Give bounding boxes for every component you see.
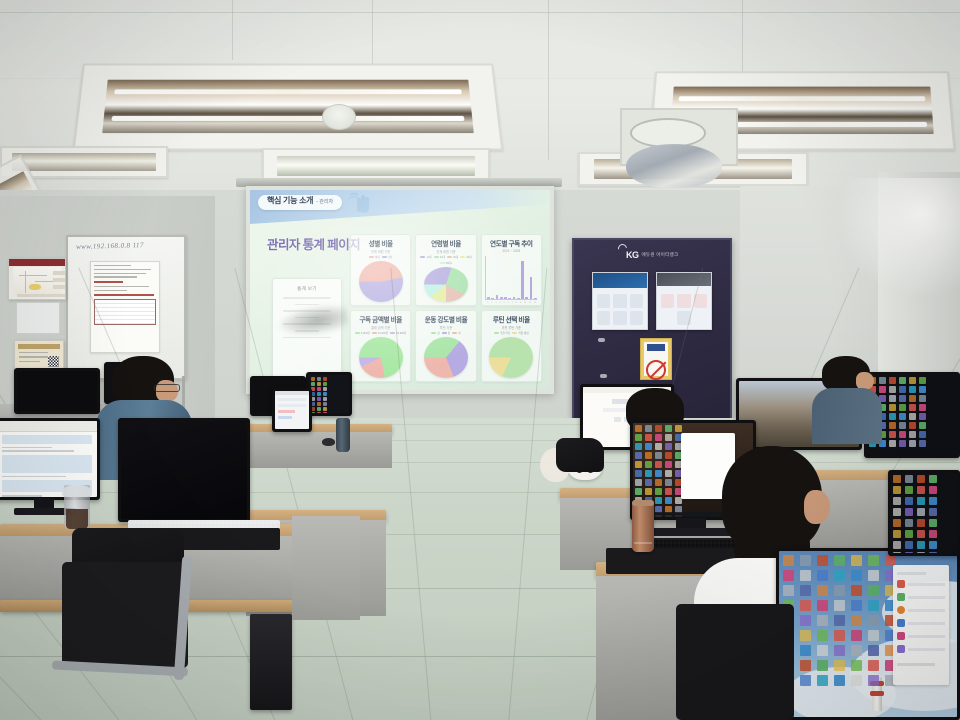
desktop-icon[interactable] bbox=[834, 615, 845, 626]
legend-swatch bbox=[440, 262, 445, 265]
legend-item: 상 bbox=[431, 331, 439, 335]
bar bbox=[496, 295, 499, 299]
ceiling bbox=[0, 0, 960, 205]
desktop-icon[interactable] bbox=[889, 395, 896, 402]
chair-left-front[interactable] bbox=[52, 562, 198, 720]
legend-label: 30대 bbox=[453, 255, 458, 259]
desktop-icon[interactable] bbox=[919, 404, 926, 411]
desktop-icon[interactable] bbox=[909, 440, 916, 447]
desktop-icon[interactable] bbox=[851, 630, 862, 641]
desktop-icon[interactable] bbox=[800, 600, 811, 611]
chart-title: 운동 강도별 비율 bbox=[425, 314, 468, 324]
bar bbox=[491, 298, 494, 299]
desktop-icon[interactable] bbox=[665, 470, 672, 477]
desktop-icon[interactable] bbox=[917, 552, 925, 553]
legend-label: 중 bbox=[448, 331, 450, 335]
desktop-icon[interactable] bbox=[893, 519, 901, 527]
legend-swatch bbox=[372, 332, 377, 335]
desktop-icon[interactable] bbox=[317, 392, 321, 396]
ceiling-air-vent bbox=[620, 108, 738, 166]
desktop-icon[interactable] bbox=[655, 488, 662, 495]
desktop-icon[interactable] bbox=[868, 600, 879, 611]
desktop-icon[interactable] bbox=[899, 377, 906, 384]
desktop-icon[interactable] bbox=[635, 434, 642, 441]
desktop-icon[interactable] bbox=[800, 630, 811, 641]
bar bbox=[487, 297, 490, 299]
desktop-icon[interactable] bbox=[889, 440, 896, 447]
legend-swatch bbox=[460, 256, 465, 259]
ceiling-speaker-icon bbox=[322, 104, 356, 130]
desktop-icon[interactable] bbox=[817, 645, 828, 656]
legend-item: 10대 bbox=[420, 255, 431, 259]
legend-item: 19,900원 bbox=[372, 331, 388, 335]
desktop-icon[interactable] bbox=[929, 486, 937, 494]
slide-header-sub: - 관리자 bbox=[316, 198, 333, 205]
desktop-icon[interactable] bbox=[909, 377, 916, 384]
desktop-icon[interactable] bbox=[817, 675, 828, 686]
desktop-icon[interactable] bbox=[868, 645, 879, 656]
x-tick-label: 7 bbox=[512, 302, 513, 304]
legend-swatch bbox=[447, 256, 452, 259]
monitor-back-left-off bbox=[14, 368, 100, 414]
chart-title: 연령별 비율 bbox=[431, 238, 461, 248]
desktop-icon[interactable] bbox=[905, 552, 913, 553]
desktop-icon[interactable] bbox=[929, 497, 937, 505]
desktop-icon[interactable] bbox=[889, 404, 896, 411]
legend-swatch bbox=[442, 332, 447, 335]
legend-swatch bbox=[431, 332, 436, 335]
desktop-icon[interactable] bbox=[917, 519, 925, 527]
desktop-icon[interactable] bbox=[851, 675, 862, 686]
desktop-icon[interactable] bbox=[645, 461, 652, 468]
desktop-icon[interactable] bbox=[323, 407, 327, 411]
desktop-icon[interactable] bbox=[851, 600, 862, 611]
legend-item: 9,900원 bbox=[355, 331, 370, 335]
desktop-icon[interactable] bbox=[834, 630, 845, 641]
x-tick-label: 8 bbox=[516, 302, 517, 304]
chart-legend: 추천 루틴직접 생성 bbox=[494, 331, 529, 335]
monitor-front-left-off bbox=[118, 418, 250, 522]
desktop-icon[interactable] bbox=[800, 645, 811, 656]
legend-swatch bbox=[434, 256, 439, 259]
mock-card-title: 통계 보기 bbox=[273, 286, 341, 292]
x-tick-label: 11 bbox=[529, 302, 531, 304]
legend-label: 9,900원 bbox=[361, 331, 370, 335]
desktop-icon[interactable] bbox=[917, 530, 925, 538]
desktop-icon[interactable] bbox=[834, 555, 845, 566]
x-tick-label: 10 bbox=[524, 302, 526, 304]
desktop-icon[interactable] bbox=[909, 386, 916, 393]
legend-item: 29,900원 bbox=[390, 331, 406, 335]
x-tick-label: 12 bbox=[534, 302, 536, 304]
desktop-icon[interactable] bbox=[817, 555, 828, 566]
bar-chart: ------123456789101112 bbox=[485, 256, 537, 300]
y-axis: ------ bbox=[482, 256, 483, 299]
bar bbox=[508, 298, 511, 299]
desktop-icon[interactable] bbox=[665, 497, 672, 504]
pin-marker bbox=[598, 338, 605, 342]
slide-chart-card: 성별 비율전체 회원 기준여성남성 bbox=[350, 234, 411, 306]
bar bbox=[521, 261, 524, 299]
desktop-icon[interactable] bbox=[919, 422, 926, 429]
desktop-icon[interactable] bbox=[899, 413, 906, 420]
legend-label: 직접 생성 bbox=[518, 331, 528, 335]
x-tick-label: 1 bbox=[487, 302, 488, 304]
legend-label: 여성 bbox=[375, 255, 380, 259]
desktop-icon[interactable] bbox=[929, 530, 937, 538]
desktop-icon[interactable] bbox=[783, 585, 794, 596]
desktop-icon[interactable] bbox=[909, 413, 916, 420]
desktop-icon[interactable] bbox=[645, 443, 652, 450]
desktop-icon[interactable] bbox=[868, 675, 879, 686]
desktop-icon[interactable] bbox=[834, 675, 845, 686]
legend-item: 하 bbox=[452, 331, 460, 335]
poster-safety-guide bbox=[592, 272, 648, 330]
pie-chart bbox=[489, 337, 533, 378]
desktop-icon[interactable] bbox=[868, 615, 879, 626]
legend-label: 상 bbox=[437, 331, 439, 335]
desktop-icon[interactable] bbox=[317, 397, 321, 401]
desktop-icon[interactable] bbox=[919, 395, 926, 402]
desktop-icon[interactable] bbox=[868, 585, 879, 596]
desktop-icon[interactable] bbox=[645, 488, 652, 495]
legend-item: 중 bbox=[442, 331, 450, 335]
notification-panel[interactable] bbox=[893, 565, 949, 685]
presentation-slide: 핵심 기능 소개 - 관리자 관리자 통계 페이지 통계 보기 성별 비율전체 … bbox=[250, 190, 550, 390]
desktop-icon[interactable] bbox=[675, 425, 682, 432]
desktop-icon[interactable] bbox=[665, 452, 672, 459]
monitor-right-edge bbox=[888, 470, 960, 556]
desktop-icon[interactable] bbox=[929, 475, 937, 483]
legend-swatch bbox=[452, 332, 457, 335]
bar bbox=[517, 298, 520, 299]
pin-marker bbox=[600, 374, 607, 378]
poster-no-food-sign bbox=[640, 338, 672, 380]
desktop-icon[interactable] bbox=[893, 497, 901, 505]
chart-legend: 10대20대30대40대50대+ bbox=[418, 255, 473, 265]
desktop-icon[interactable] bbox=[917, 497, 925, 505]
desktop-icon[interactable] bbox=[919, 386, 926, 393]
desktop-icon[interactable] bbox=[834, 600, 845, 611]
desktop-icon[interactable] bbox=[889, 377, 896, 384]
monitor-foreground-desktop bbox=[776, 548, 960, 720]
chart-subtitle: 전체 회원 기준 bbox=[371, 249, 390, 254]
desktop-icon[interactable] bbox=[800, 660, 811, 671]
desktop-icon[interactable] bbox=[645, 452, 652, 459]
desktop-icon[interactable] bbox=[899, 431, 906, 438]
desktop-icon[interactable] bbox=[899, 386, 906, 393]
chart-legend: 9,900원19,900원29,900원 bbox=[355, 331, 407, 335]
desktop-icon[interactable] bbox=[929, 541, 937, 549]
desktop-icon[interactable] bbox=[919, 413, 926, 420]
desktop-icon[interactable] bbox=[909, 404, 916, 411]
chart-legend: 상중하 bbox=[431, 331, 460, 335]
desktop-icon[interactable] bbox=[317, 382, 321, 386]
desktop-icon[interactable] bbox=[665, 443, 672, 450]
desktop-icon[interactable] bbox=[929, 519, 937, 527]
desktop-icon[interactable] bbox=[783, 570, 794, 581]
desktop-icon[interactable] bbox=[645, 470, 652, 477]
desktop-icon[interactable] bbox=[317, 377, 321, 381]
desktop-icon[interactable] bbox=[317, 387, 321, 391]
desktop-icon[interactable] bbox=[905, 497, 913, 505]
legend-label: 40대 bbox=[466, 255, 471, 259]
desktop-icon[interactable] bbox=[323, 397, 327, 401]
legend-swatch bbox=[494, 332, 499, 335]
desktop-icon[interactable] bbox=[317, 407, 321, 411]
desktop-icon[interactable] bbox=[655, 443, 662, 450]
desktop-icon[interactable] bbox=[800, 570, 811, 581]
poster-fire-drill bbox=[656, 272, 712, 330]
whiteboard-attached-document bbox=[90, 261, 160, 353]
desktop-icon[interactable] bbox=[905, 541, 913, 549]
desktop-icon[interactable] bbox=[323, 382, 327, 386]
pie-chart bbox=[424, 337, 468, 378]
desktop-icon[interactable] bbox=[655, 479, 662, 486]
legend-item: 추천 루틴 bbox=[494, 331, 510, 335]
desktop-icon[interactable] bbox=[655, 452, 662, 459]
slide-chart-card: 구독 금액별 비율결제 금액 기준9,900원19,900원29,900원 bbox=[350, 310, 411, 382]
desktop-icon[interactable] bbox=[851, 570, 862, 581]
mouse-back-center[interactable] bbox=[322, 438, 335, 446]
legend-item: 40대 bbox=[460, 255, 471, 259]
desktop-icon[interactable] bbox=[889, 422, 896, 429]
desktop-icon[interactable] bbox=[893, 508, 901, 516]
desk-panel-back-center bbox=[236, 432, 392, 468]
desktop-icon[interactable] bbox=[889, 413, 896, 420]
desktop-icon[interactable] bbox=[868, 570, 879, 581]
desktop-icon[interactable] bbox=[323, 412, 327, 413]
desktop-icon[interactable] bbox=[893, 530, 901, 538]
poster-evacuation-map bbox=[8, 258, 66, 300]
kg-logo: KG 에듀원 아이티뱅크 bbox=[626, 250, 678, 260]
legend-item: 여성 bbox=[369, 255, 380, 259]
desktop-icon[interactable] bbox=[899, 422, 906, 429]
desktop-icon[interactable] bbox=[635, 488, 642, 495]
desktop-icon[interactable] bbox=[905, 486, 913, 494]
legend-item: 남성 bbox=[382, 255, 393, 259]
desktop-icon[interactable] bbox=[635, 461, 642, 468]
desktop-icon[interactable] bbox=[905, 530, 913, 538]
kg-logo-mark: KG bbox=[626, 250, 639, 260]
desktop-icon[interactable] bbox=[817, 630, 828, 641]
legend-label: 추천 루틴 bbox=[500, 331, 510, 335]
desktop-icon[interactable] bbox=[665, 461, 672, 468]
slide-chart-card: 루틴 선택 비율추천 루틴 기준추천 루틴직접 생성 bbox=[481, 310, 542, 382]
desktop-icon[interactable] bbox=[917, 541, 925, 549]
desktop-icon[interactable] bbox=[817, 600, 828, 611]
desktop-icon[interactable] bbox=[868, 630, 879, 641]
desktop-icon[interactable] bbox=[917, 486, 925, 494]
x-axis-ticks: 123456789101112 bbox=[486, 302, 537, 304]
desktop-icon[interactable] bbox=[665, 479, 672, 486]
pie-chart bbox=[424, 267, 468, 302]
slide-chart-card: 운동 강도별 비율루틴 기준상중하 bbox=[415, 310, 476, 382]
bar bbox=[530, 277, 533, 299]
desktop-icon[interactable] bbox=[893, 541, 901, 549]
x-tick-label: 6 bbox=[508, 302, 509, 304]
bar bbox=[525, 297, 528, 299]
desktop-icon[interactable] bbox=[909, 395, 916, 402]
classroom-photo: www.192.168.0.8 117 bbox=[0, 0, 960, 720]
desktop-icon[interactable] bbox=[817, 615, 828, 626]
desktop-icon[interactable] bbox=[323, 387, 327, 391]
desktop-icon[interactable] bbox=[645, 434, 652, 441]
legend-label: 50대+ bbox=[446, 261, 453, 265]
poster-blank-notice bbox=[16, 302, 60, 334]
bar bbox=[500, 297, 503, 299]
desktop-icon[interactable] bbox=[800, 615, 811, 626]
desktop-icon[interactable] bbox=[909, 422, 916, 429]
desktop-icon[interactable] bbox=[635, 443, 642, 450]
desktop-icon[interactable] bbox=[919, 440, 926, 447]
desktop-icon[interactable] bbox=[929, 508, 937, 516]
pie-chart bbox=[359, 261, 403, 302]
desktop-icon[interactable] bbox=[834, 645, 845, 656]
person-student-back-right bbox=[812, 356, 882, 436]
desktop-icon[interactable] bbox=[635, 452, 642, 459]
slide-chart-card: 연령별 비율전체 회원 기준10대20대30대40대50대+ bbox=[415, 234, 476, 306]
jacket-on-desk-right bbox=[556, 438, 604, 472]
desktop-icon[interactable] bbox=[665, 488, 672, 495]
desktop-icon[interactable] bbox=[635, 479, 642, 486]
brown-tumbler bbox=[632, 500, 654, 552]
desktop-icon[interactable] bbox=[899, 395, 906, 402]
desktop-icon[interactable] bbox=[800, 675, 811, 686]
slide-title-pill: 핵심 기능 소개 - 관리자 bbox=[258, 195, 342, 210]
legend-swatch bbox=[512, 332, 517, 335]
legend-swatch bbox=[369, 256, 374, 259]
desktop-icon[interactable] bbox=[905, 519, 913, 527]
legend-label: 29,900원 bbox=[396, 331, 406, 335]
legend-label: 10대 bbox=[426, 255, 431, 259]
desktop-icon[interactable] bbox=[893, 552, 901, 553]
desktop-icon[interactable] bbox=[317, 402, 321, 406]
slide-chart-grid: 성별 비율전체 회원 기준여성남성연령별 비율전체 회원 기준10대20대30대… bbox=[350, 234, 542, 382]
desktop-icon[interactable] bbox=[899, 404, 906, 411]
desktop-icon[interactable] bbox=[919, 377, 926, 384]
hand-wave-icon bbox=[348, 191, 374, 213]
desktop-icon[interactable] bbox=[323, 377, 327, 381]
desktop-icon[interactable] bbox=[899, 440, 906, 447]
chart-subtitle: 추천 루틴 기준 bbox=[502, 325, 521, 330]
desktop-icon[interactable] bbox=[635, 425, 642, 432]
whiteboard-handwriting: www.192.168.0.8 117 bbox=[76, 241, 144, 251]
chart-title: 성별 비율 bbox=[369, 238, 393, 248]
desktop-icon[interactable] bbox=[917, 475, 925, 483]
desktop-icon[interactable] bbox=[645, 425, 652, 432]
slide-header-label: 핵심 기능 소개 bbox=[267, 195, 313, 206]
desktop-icon[interactable] bbox=[834, 570, 845, 581]
desktop-icon[interactable] bbox=[834, 585, 845, 596]
desktop-icon[interactable] bbox=[929, 552, 937, 553]
x-tick-label: 2 bbox=[491, 302, 492, 304]
desktop-icon[interactable] bbox=[665, 425, 672, 432]
legend-label: 남성 bbox=[388, 255, 393, 259]
desktop-icon[interactable] bbox=[834, 660, 845, 671]
desktop-icon[interactable] bbox=[311, 382, 315, 386]
desk-pedestal-center bbox=[292, 516, 360, 620]
desktop-icon[interactable] bbox=[645, 479, 652, 486]
chart-subtitle: 결제 금액 기준 bbox=[371, 325, 390, 330]
desktop-icon[interactable] bbox=[851, 585, 862, 596]
desktop-icon[interactable] bbox=[665, 434, 672, 441]
desktop-icon[interactable] bbox=[905, 508, 913, 516]
desktop-icon[interactable] bbox=[317, 412, 321, 413]
desktop-icon[interactable] bbox=[817, 570, 828, 581]
desktop-icon[interactable] bbox=[655, 425, 662, 432]
monitor-foreground-screen bbox=[779, 551, 957, 717]
desktop-icon[interactable] bbox=[851, 660, 862, 671]
legend-item: 50대+ bbox=[440, 261, 453, 265]
desktop-icon[interactable] bbox=[817, 585, 828, 596]
desktop-icon[interactable] bbox=[889, 431, 896, 438]
desktop-icon[interactable] bbox=[655, 461, 662, 468]
monitor-back-center-icons bbox=[306, 372, 352, 416]
desktop-icon[interactable] bbox=[655, 434, 662, 441]
desktop-icon[interactable] bbox=[868, 660, 879, 671]
chair-right-front[interactable] bbox=[676, 604, 796, 720]
desktop-icon[interactable] bbox=[800, 555, 811, 566]
desktop-icon[interactable] bbox=[800, 585, 811, 596]
legend-swatch bbox=[420, 256, 425, 259]
ceiling-light-panel bbox=[73, 64, 504, 151]
desktop-icon[interactable] bbox=[889, 386, 896, 393]
bar bbox=[504, 297, 507, 299]
iced-coffee-cup bbox=[64, 485, 90, 529]
desktop-icon[interactable] bbox=[893, 486, 901, 494]
desktop-icon[interactable] bbox=[909, 431, 916, 438]
desktop-icon[interactable] bbox=[655, 470, 662, 477]
kg-logo-subtext: 에듀원 아이티뱅크 bbox=[642, 252, 679, 258]
water-bottle bbox=[336, 418, 350, 452]
desktop-icon[interactable] bbox=[783, 555, 794, 566]
desktop-icon[interactable] bbox=[851, 555, 862, 566]
desktop-icon[interactable] bbox=[868, 555, 879, 566]
desktop-icon[interactable] bbox=[893, 475, 901, 483]
x-tick-label: 9 bbox=[520, 302, 521, 304]
legend-label: 하 bbox=[458, 331, 460, 335]
chart-subtitle: 루틴 기준 bbox=[440, 325, 453, 330]
desktop-icon[interactable] bbox=[323, 402, 327, 406]
computer-tower-center bbox=[250, 614, 292, 710]
slide-heading: 관리자 통계 페이지 bbox=[264, 238, 360, 254]
monitor-back-center-blank bbox=[272, 388, 312, 432]
bar bbox=[534, 298, 537, 299]
chart-title: 연도별 구독 추이 bbox=[490, 238, 533, 248]
desktop-icon[interactable] bbox=[655, 497, 662, 504]
legend-item: 20대 bbox=[434, 255, 445, 259]
chart-title: 루틴 선택 비율 bbox=[493, 314, 530, 324]
desktop-icon[interactable] bbox=[851, 645, 862, 656]
legend-swatch bbox=[382, 256, 387, 259]
legend-label: 19,900원 bbox=[378, 331, 388, 335]
legend-label: 20대 bbox=[440, 255, 445, 259]
desktop-icon[interactable] bbox=[311, 377, 315, 381]
desktop-icon[interactable] bbox=[919, 431, 926, 438]
desktop-icon[interactable] bbox=[905, 475, 913, 483]
desktop-icon[interactable] bbox=[635, 470, 642, 477]
chart-legend: 여성남성 bbox=[369, 255, 393, 259]
desktop-icon[interactable] bbox=[851, 615, 862, 626]
desktop-icon[interactable] bbox=[323, 392, 327, 396]
x-tick-label: 4 bbox=[500, 302, 501, 304]
prohibition-icon bbox=[646, 360, 666, 380]
bar bbox=[513, 297, 516, 299]
legend-item: 직접 생성 bbox=[512, 331, 528, 335]
desktop-icon[interactable] bbox=[817, 660, 828, 671]
desktop-icon[interactable] bbox=[917, 508, 925, 516]
